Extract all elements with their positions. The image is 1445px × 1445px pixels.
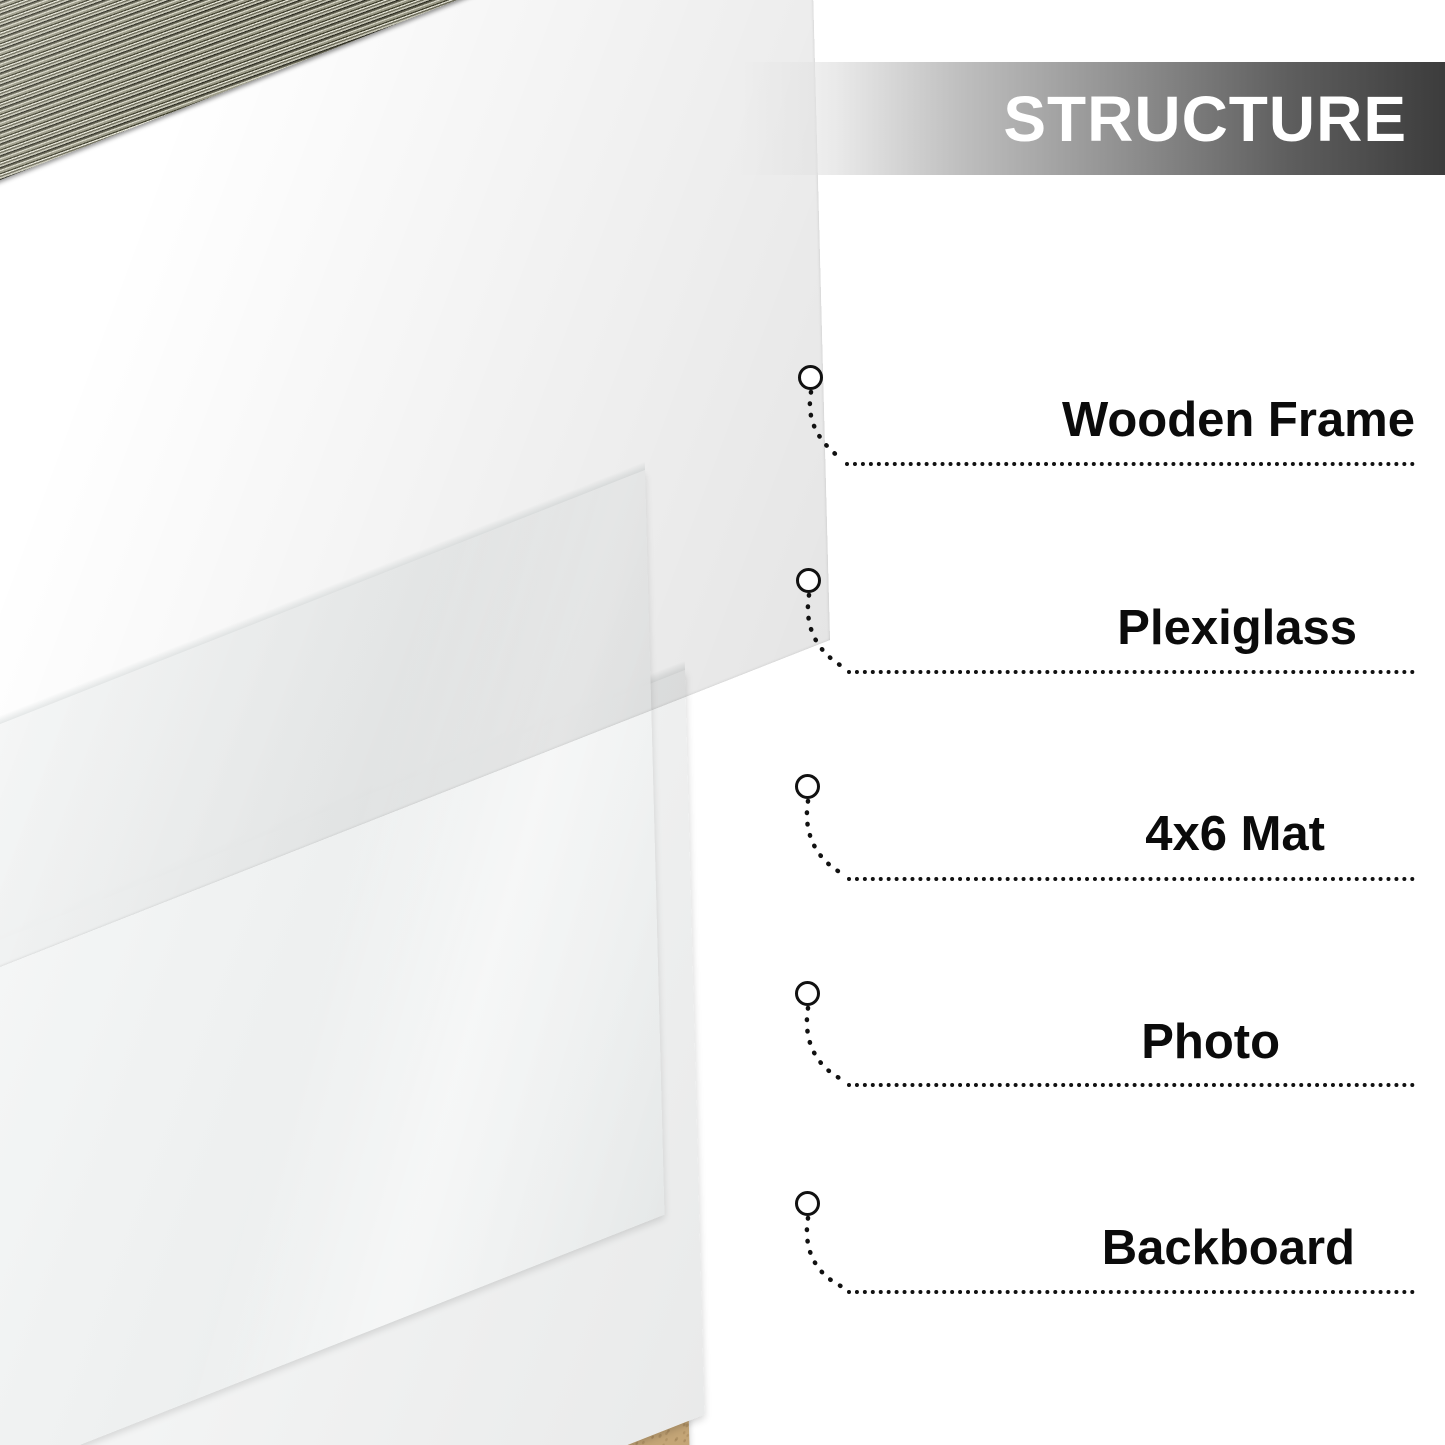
callout-rule-plexiglass bbox=[847, 670, 1415, 674]
callout-label-wooden-frame: Wooden Frame bbox=[1062, 396, 1415, 445]
callout-label-mat: 4x6 Mat bbox=[1145, 810, 1325, 859]
banner-title: STRUCTURE bbox=[1003, 87, 1445, 151]
callout-rule-backboard bbox=[847, 1290, 1415, 1294]
callout-label-photo: Photo bbox=[1141, 1018, 1280, 1067]
callout-label-plexiglass: Plexiglass bbox=[1117, 604, 1357, 653]
marker-photo[interactable] bbox=[795, 981, 820, 1006]
marker-wooden-frame[interactable] bbox=[798, 365, 823, 390]
leader-line-backboard bbox=[807, 1218, 845, 1288]
infographic-canvas: STRUCTURE Wooden Frame Plexiglass 4x6 Ma… bbox=[0, 0, 1445, 1445]
structure-banner: STRUCTURE bbox=[738, 62, 1445, 175]
marker-plexiglass[interactable] bbox=[796, 568, 821, 593]
marker-backboard[interactable] bbox=[795, 1191, 820, 1216]
callout-rule-wooden-frame bbox=[845, 462, 1415, 466]
callout-rule-photo bbox=[847, 1083, 1415, 1087]
leader-line-mat bbox=[807, 801, 845, 875]
callout-rule-mat bbox=[847, 877, 1415, 881]
marker-mat[interactable] bbox=[795, 774, 820, 799]
callout-label-backboard: Backboard bbox=[1102, 1224, 1355, 1273]
leader-line-photo bbox=[807, 1008, 845, 1081]
